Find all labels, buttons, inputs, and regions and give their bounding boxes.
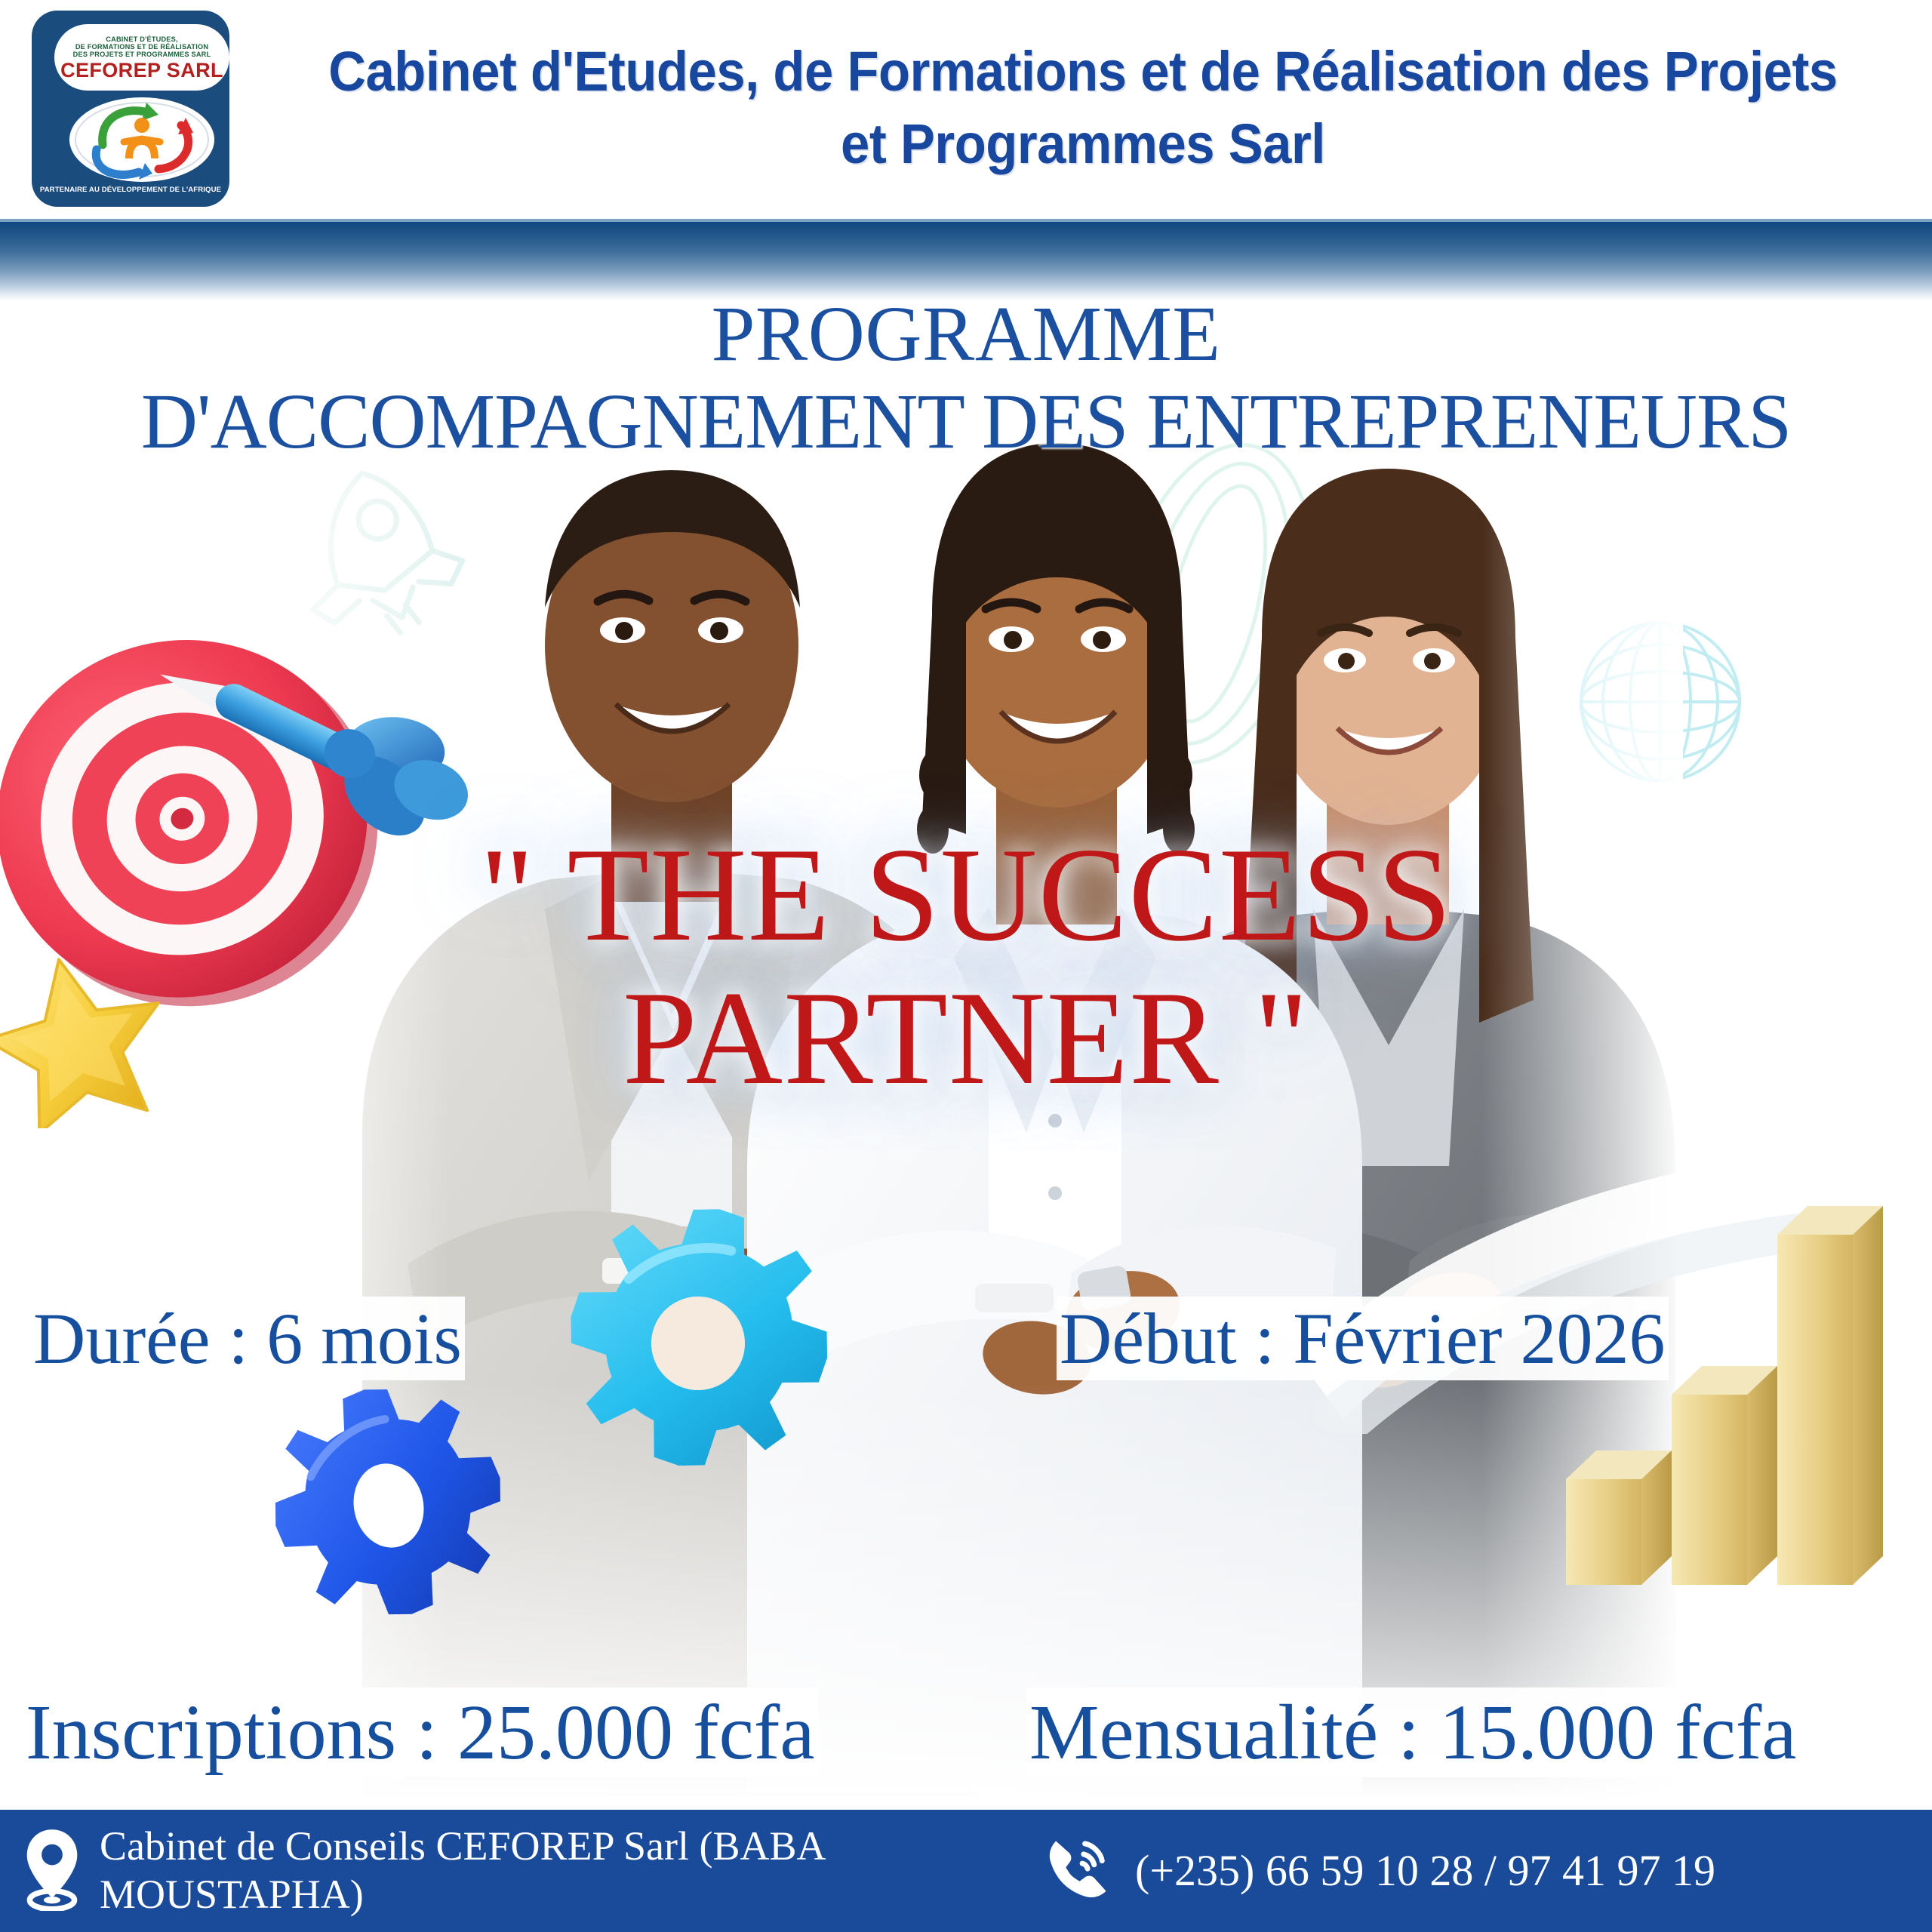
logo-name-pill: CABINET D'ÉTUDES, DE FORMATIONS ET DE RÉ… (54, 24, 229, 91)
duration-text: Durée : 6 mois (30, 1297, 465, 1380)
program-title-line2: D'ACCOMPAGNEMENT DES ENTREPRENEURS (23, 378, 1909, 466)
footer-address-text: Cabinet de Conseils CEFOREP Sarl (BABA M… (100, 1823, 1005, 1918)
footer-phone-text: (+235) 66 59 10 28 / 97 41 97 19 (1135, 1845, 1715, 1897)
monthly-fee-text: Mensualité : 15.000 fcfa (1026, 1687, 1800, 1777)
logo-baseline-text: PARTENAIRE AU DÉVELOPPEMENT DE L'AFRIQUE (32, 186, 229, 194)
start-date-info: Début : Février 2026 (1057, 1297, 1669, 1380)
footer-address-block: Cabinet de Conseils CEFOREP Sarl (BABA M… (24, 1810, 1005, 1932)
location-pin-icon (24, 1828, 80, 1915)
logo-brand-name: CEFOREP SARL (60, 60, 223, 81)
program-title: PROGRAMME D'ACCOMPAGNEMENT DES ENTREPREN… (23, 291, 1909, 466)
logo-plate: CABINET D'ÉTUDES, DE FORMATIONS ET DE RÉ… (32, 11, 229, 207)
header-gradient-band (0, 222, 1932, 301)
ceforep-cycle-emblem (66, 95, 217, 184)
phone-ringing-icon (1041, 1833, 1114, 1909)
white-swoosh-icon (1313, 1117, 1857, 1434)
green-swirl-decor-icon (1087, 423, 1343, 785)
three-entrepreneurs-photo (249, 306, 1683, 1800)
rocket-outline-icon (249, 453, 475, 657)
contact-footer: Cabinet de Conseils CEFOREP Sarl (BABA M… (0, 1810, 1932, 1932)
program-title-line1: PROGRAMME (23, 291, 1909, 378)
blue-gear-icon (264, 1381, 513, 1630)
company-title: Cabinet d'Etudes, de Formations et de Ré… (307, 14, 1858, 202)
poster-canvas: PROGRAMME D'ACCOMPAGNEMENT DES ENTREPREN… (0, 0, 1932, 1932)
duration-info: Durée : 6 mois (30, 1297, 465, 1380)
gold-star-icon (0, 947, 170, 1128)
logo-subtitle-line3: DES PROJETS ET PROGRAMMES SARL (73, 51, 211, 58)
target-bullseye-icon (0, 604, 392, 1026)
registration-fee-info: Inscriptions : 25.000 fcfa (23, 1687, 818, 1777)
hero-title-line1: " THE SUCCESS (106, 823, 1826, 966)
logo-subtitle-line1: CABINET D'ÉTUDES, (106, 35, 177, 43)
poster-header: Cabinet d'Etudes, de Formations et de Ré… (0, 0, 1932, 219)
cyan-gear-icon (555, 1200, 841, 1487)
dart-arrow-icon (128, 596, 483, 868)
start-date-text: Début : Février 2026 (1057, 1297, 1669, 1380)
hero-title: " THE SUCCESS PARTNER " (106, 823, 1826, 1110)
company-logo: CABINET D'ÉTUDES, DE FORMATIONS ET DE RÉ… (21, 6, 240, 211)
wireframe-globe-icon (1574, 615, 1747, 789)
logo-subtitle-line2: DE FORMATIONS ET DE RÉALISATION (75, 43, 208, 51)
registration-fee-text: Inscriptions : 25.000 fcfa (23, 1687, 818, 1777)
monthly-fee-info: Mensualité : 15.000 fcfa (1026, 1687, 1800, 1777)
footer-phone-block: (+235) 66 59 10 28 / 97 41 97 19 (1041, 1810, 1932, 1932)
hero-title-line2: PARTNER " (106, 966, 1826, 1109)
